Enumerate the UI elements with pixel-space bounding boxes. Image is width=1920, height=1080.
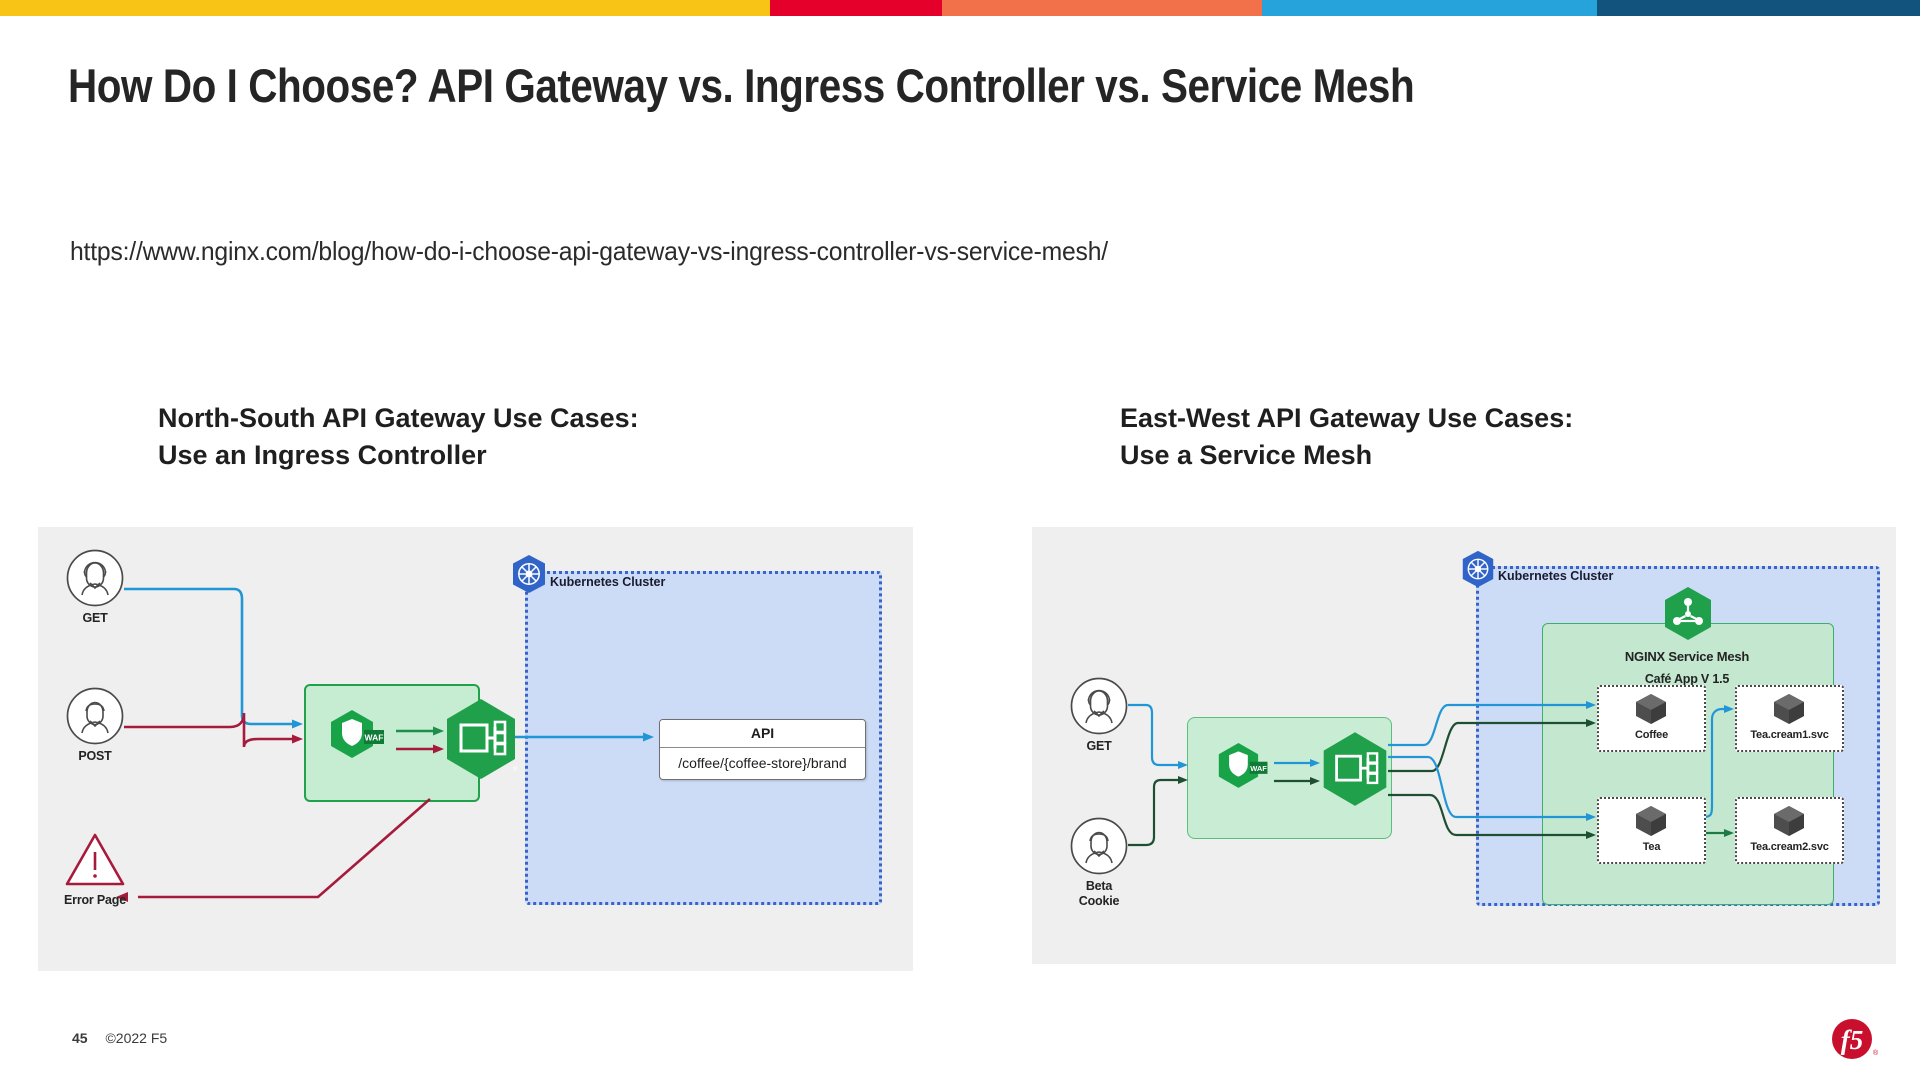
left-user-post [66, 687, 124, 745]
api-box-title: API [660, 720, 865, 748]
waf-shield-icon: WAF [328, 708, 390, 774]
pod-coffee: Coffee [1597, 685, 1706, 752]
svg-text:WAF: WAF [365, 733, 384, 743]
left-user-get-label: GET [66, 611, 124, 626]
api-box-path: /coffee/{coffee-store}/brand [660, 748, 865, 778]
svg-text:®: ® [513, 766, 518, 773]
left-diagram-panel: Kubernetes Cluster [38, 527, 913, 971]
waf-shield-icon: WAF [1216, 741, 1274, 803]
error-page-icon [64, 832, 126, 888]
nginx-service-mesh-icon [1662, 585, 1714, 643]
svg-text:f5: f5 [1841, 1025, 1864, 1055]
error-page-label: Error Page [50, 893, 140, 908]
right-user-get [1070, 677, 1128, 735]
left-section-heading: North-South API Gateway Use Cases: Use a… [158, 400, 639, 475]
source-url: https://www.nginx.com/blog/how-do-i-choo… [70, 236, 1108, 267]
right-section-heading: East-West API Gateway Use Cases: Use a S… [1120, 400, 1573, 475]
brand-color-bar [0, 0, 1920, 16]
footer: 45 ©2022 F5 [72, 1030, 167, 1046]
left-user-get [66, 549, 124, 607]
mesh-title: NGINX Service Mesh [1592, 649, 1782, 664]
page-title: How Do I Choose? API Gateway vs. Ingress… [68, 58, 1616, 113]
right-user-beta-cookie-label: Beta Cookie [1058, 879, 1140, 909]
nginx-gateway-icon [1320, 730, 1390, 810]
pod-tea-cream2-label: Tea.cream2.svc [1737, 841, 1842, 854]
right-diagram-panel: Kubernetes Cluster [1032, 527, 1896, 964]
svg-text:®: ® [1873, 1049, 1879, 1057]
svg-text:WAF: WAF [1250, 764, 1267, 773]
api-endpoint-box: API /coffee/{coffee-store}/brand [659, 719, 866, 780]
f5-logo: f5 ® [1828, 1018, 1880, 1064]
left-user-post-label: POST [62, 749, 128, 764]
pod-tea-cream2: Tea.cream2.svc [1735, 797, 1844, 864]
pod-tea-label: Tea [1599, 841, 1704, 854]
pod-tea-cream1-label: Tea.cream1.svc [1737, 729, 1842, 742]
pod-coffee-label: Coffee [1599, 729, 1704, 742]
page-number: 45 [72, 1030, 88, 1046]
color-segment-yellow [0, 0, 770, 16]
nginx-ingress-icon: ® [443, 697, 519, 783]
copyright-text: ©2022 F5 [105, 1030, 167, 1046]
pod-tea: Tea [1597, 797, 1706, 864]
color-segment-darkblue [1597, 0, 1920, 16]
color-segment-red [770, 0, 942, 16]
color-segment-orange [942, 0, 1262, 16]
right-user-get-label: GET [1070, 739, 1128, 754]
color-segment-lightblue [1262, 0, 1597, 16]
right-user-beta-cookie [1070, 817, 1128, 875]
pod-tea-cream1: Tea.cream1.svc [1735, 685, 1844, 752]
